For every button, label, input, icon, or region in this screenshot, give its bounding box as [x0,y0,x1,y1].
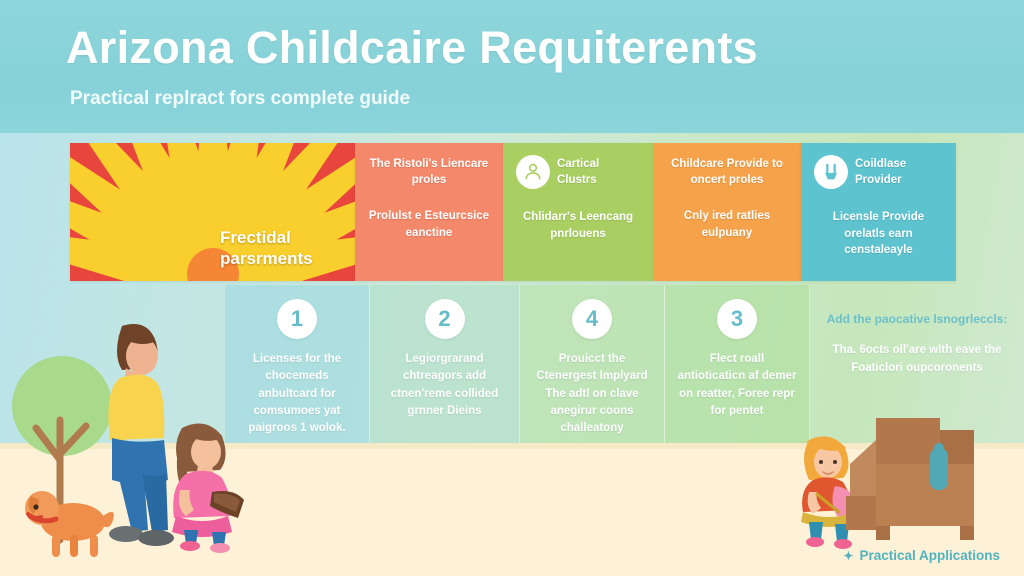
sparkle-icon: ✦ [843,549,853,563]
step-text: Legiorgrarand chtreagors add ctnen'reme … [370,351,519,420]
step-text: Prouicct the Ctenergest lmplyard The adt… [520,351,664,437]
panel-orange: Childcare Provide to oncert proles Cnly … [653,143,801,281]
column-step-4: 4 Prouicct the Ctenergest lmplyard The a… [520,285,665,443]
column-step-2: 2 Legiorgrarand chtreagors add ctnen'rem… [370,285,520,443]
side-note-title: Add the paocative lsnogrleccls: [810,311,1024,328]
provider-circle-icon [814,155,848,189]
panel-green-body: Chlidarr's Leencang pnrlouens [516,209,640,242]
column-step-3: 3 Flect roall antioticaticn af demer on … [665,285,810,443]
panel-strip: Frectidal parsrments The Ristoli's Lienc… [70,143,956,281]
footer-tag: ✦ Practical Applications [843,548,1000,563]
illustration-girl-reading-book [168,418,248,553]
panel-salmon-heading: The Ristoli's Liencare proles [368,157,490,188]
illustration-wooden-desk [868,404,1008,544]
panel-orange-heading: Childcare Provide to oncert proles [666,157,788,188]
panel-arizona-flag: Frectidal parsrments [70,143,355,281]
step-number-badge: 4 [572,299,612,339]
panel-salmon-body: Prolulst e Esteurcsice eanctine [368,208,490,241]
footer-label: Practical Applications [859,548,1000,563]
side-note-body: Tha. 6octs oll'are wlth eave the Foaticl… [810,342,1024,377]
page-title: Arizona Childcaire Requiterents [66,22,758,74]
panel-orange-body: Cnly ired ratlies eulpuany [666,208,788,241]
step-number-badge: 3 [717,299,757,339]
page-subtitle: Practical replract fors complete guide [70,88,410,110]
panel-salmon: The Ristoli's Liencare proles Prolulst e… [355,143,503,281]
panel-teal: Coildlase Provider Licensle Provide orel… [801,143,956,281]
step-text: Flect roall antioticaticn af demer on re… [665,351,809,420]
step-number-badge: 2 [425,299,465,339]
infographic-canvas: Arizona Childcaire Requiterents Practica… [0,0,1024,576]
panel-green-heading: Cartical Clustrs [557,157,640,188]
panel-teal-heading: Coildlase Provider [855,157,943,188]
panel-teal-body: Licensle Provide orelatls earn censtalea… [814,209,943,259]
step-number-badge: 1 [277,299,317,339]
flag-overlay-text: Frectidal parsrments [220,227,355,270]
panel-green: Cartical Clustrs Chlidarr's Leencang pnr… [503,143,653,281]
person-circle-icon [516,155,550,189]
